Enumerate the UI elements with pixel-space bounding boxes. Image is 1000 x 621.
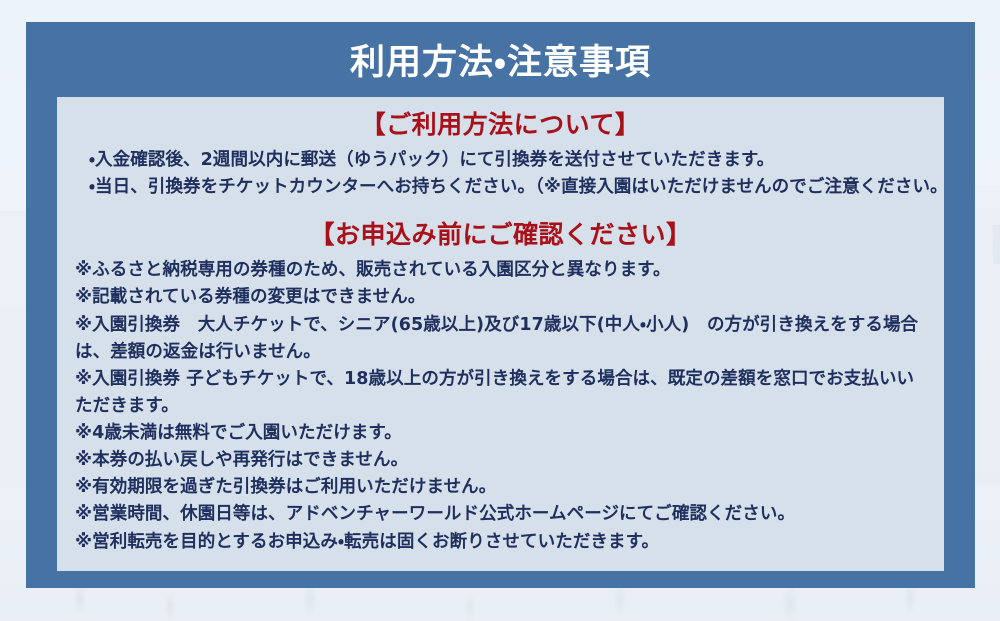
usage-line-1: ・入金確認後、2週間以内に郵送（ゆうパック）にて引換券を送付させていただきます。 <box>89 147 930 174</box>
section-heading-usage: 【ご利用方法について】 <box>71 105 930 141</box>
page-title: 利用方法・注意事項 <box>350 34 651 85</box>
note-line-7: ※有効期限を過ぎた引換券はご利用いただけません。 <box>75 474 930 501</box>
note-line-8: ※営業時間、休園日等は、アドベンチャーワールド公式ホームページにてご確認ください… <box>75 501 930 528</box>
content-panel: 【ご利用方法について】 ・入金確認後、2週間以内に郵送（ゆうパック）にて引換券を… <box>57 97 944 571</box>
card-title-bar: 利用方法・注意事項 <box>57 22 944 97</box>
note-line-5: ※4歳未満は無料でご入園いただけます。 <box>75 420 930 447</box>
note-line-3: ※入園引換券 大人チケットで、シニア(65歳以上)及び17歳以下(中人・小人) … <box>75 312 930 366</box>
note-line-1: ※ふるさと納税専用の券種のため、販売されている入園区分と異なります。 <box>75 257 930 284</box>
section-heading-before-applying: 【お申込み前にご確認ください】 <box>71 215 930 251</box>
usage-line-2: ・当日、引換券をチケットカウンターへお持ちください。（※直接入園はいただけません… <box>89 174 930 201</box>
info-card: 利用方法・注意事項 【ご利用方法について】 ・入金確認後、2週間以内に郵送（ゆう… <box>26 22 975 588</box>
note-line-9: ※営利転売を目的とするお申込み・転売は固くお断りさせていただきます。 <box>75 529 930 556</box>
note-line-2: ※記載されている券種の変更はできません。 <box>75 284 930 311</box>
page-canvas: ADVENTURE WORLD Welcome! 🦁 🐯 🐼 🐧 🦩 🐘 🦒 利… <box>0 0 1000 621</box>
note-line-4: ※入園引換券 子どもチケットで、18歳以上の方が引き換えをする場合は、既定の差額… <box>75 366 930 420</box>
note-line-6: ※本券の払い戻しや再発行はできません。 <box>75 447 930 474</box>
notes-lines: ※ふるさと納税専用の券種のため、販売されている入園区分と異なります。 ※記載され… <box>71 257 930 555</box>
usage-lines: ・入金確認後、2週間以内に郵送（ゆうパック）にて引換券を送付させていただきます。… <box>71 147 930 201</box>
